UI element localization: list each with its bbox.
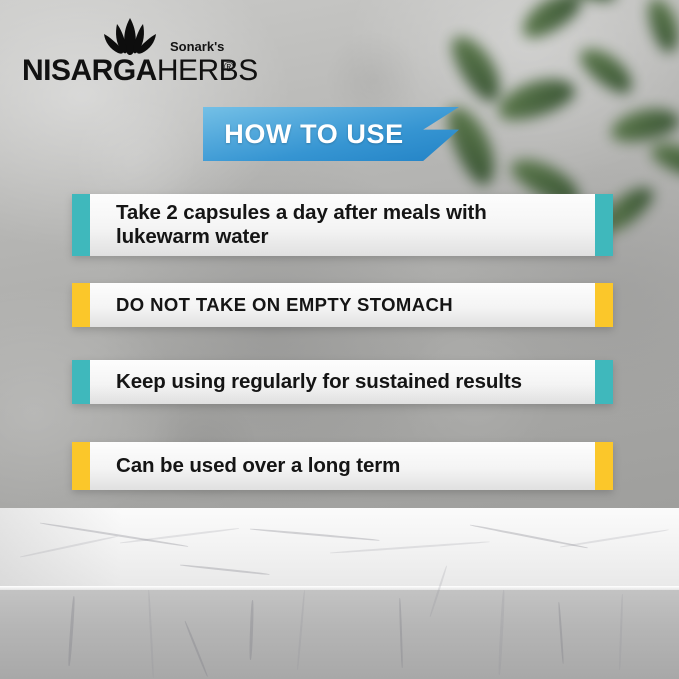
accent-cap-right — [595, 442, 613, 490]
marble-counter-front — [0, 590, 679, 679]
accent-cap-right — [595, 194, 613, 256]
brand-logo: NISARGAHERBS Sonark's ® — [22, 18, 252, 90]
how-to-use-poster: NISARGAHERBS Sonark's ® HOW TO USE Take … — [0, 0, 679, 679]
instruction-bar: Can be used over a long term — [72, 442, 613, 490]
marble-counter-top — [0, 508, 679, 590]
instruction-bar-body: Take 2 capsules a day after meals with l… — [90, 194, 595, 256]
accent-cap-left — [72, 283, 90, 327]
brand-owner-label: Sonark's — [170, 39, 224, 54]
instruction-bar-body: Keep using regularly for sustained resul… — [90, 360, 595, 404]
instruction-bar: DO NOT TAKE ON EMPTY STOMACH — [72, 283, 613, 327]
page-title: HOW TO USE — [203, 107, 425, 161]
instruction-text: Take 2 capsules a day after meals with l… — [90, 201, 595, 249]
accent-cap-right — [595, 283, 613, 327]
accent-cap-left — [72, 194, 90, 256]
instruction-bar: Keep using regularly for sustained resul… — [72, 360, 613, 404]
instruction-bar: Take 2 capsules a day after meals with l… — [72, 194, 613, 256]
instruction-text: Keep using regularly for sustained resul… — [90, 370, 536, 394]
lotus-icon — [94, 18, 166, 56]
instruction-bar-body: Can be used over a long term — [90, 442, 595, 490]
accent-cap-left — [72, 360, 90, 404]
accent-cap-left — [72, 442, 90, 490]
brand-wordmark: NISARGAHERBS — [22, 56, 252, 86]
instruction-text: DO NOT TAKE ON EMPTY STOMACH — [90, 294, 467, 316]
instruction-text: Can be used over a long term — [90, 454, 414, 478]
brand-name-bold: NISARGA — [22, 54, 157, 87]
instruction-bar-body: DO NOT TAKE ON EMPTY STOMACH — [90, 283, 595, 327]
olive-branch-decoration — [400, 0, 679, 320]
brand-name-light: HERBS — [157, 54, 258, 87]
accent-cap-right — [595, 360, 613, 404]
registered-trademark-icon: ® — [224, 59, 234, 74]
